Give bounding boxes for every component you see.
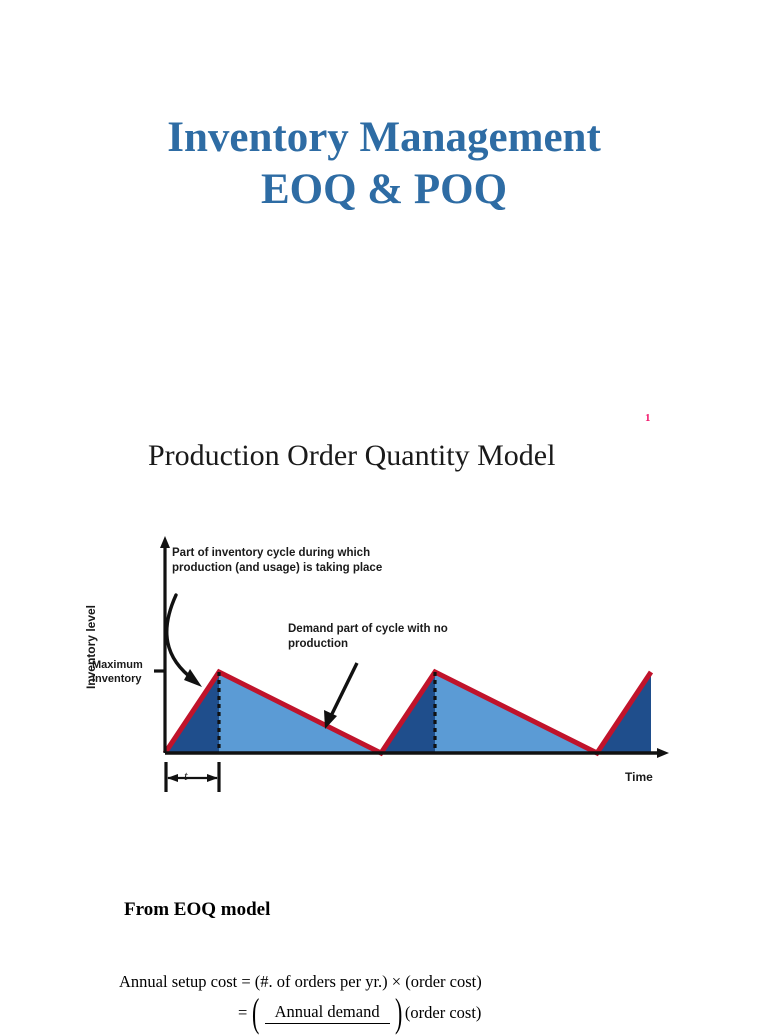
demand-phase-annotation: Demand part of cycle with no production <box>288 622 498 652</box>
t-bracket-left-arrowhead <box>167 774 178 782</box>
maximum-inventory-label: Maximum inventory <box>92 659 168 686</box>
poq-model-heading: Production Order Quantity Model <box>148 437 568 475</box>
production-note-curved-arrow <box>167 595 194 680</box>
title-line-1: Inventory Management <box>0 112 768 164</box>
production-phase-annotation: Part of inventory cycle during which pro… <box>172 546 422 576</box>
slide-title-block: Inventory Management EOQ & POQ <box>0 112 768 216</box>
annual-setup-cost-formula: Annual setup cost = (#. of orders per yr… <box>119 972 482 992</box>
demand-note-straight-arrow <box>330 663 357 718</box>
x-axis-arrowhead <box>657 748 669 758</box>
production-note-arrowhead <box>184 669 202 687</box>
production-duration-label: t <box>184 768 188 784</box>
from-eoq-model-heading: From EOQ model <box>124 899 270 921</box>
slide-number: 1 <box>645 412 651 424</box>
fraction-numerator: Annual demand <box>265 1002 390 1023</box>
title-line-2: EOQ & POQ <box>0 164 768 216</box>
annual-demand-fraction: Annual demand <box>265 1002 390 1025</box>
t-bracket-right-arrowhead <box>207 774 218 782</box>
y-axis-arrowhead <box>160 536 170 548</box>
order-cost-term: (order cost) <box>405 1003 482 1023</box>
equals-sign: = <box>238 1003 247 1023</box>
y-axis-label: Inventory level <box>84 592 98 702</box>
poq-inventory-chart: Part of inventory cycle during which pro… <box>60 530 700 805</box>
x-axis-label: Time <box>625 770 653 784</box>
